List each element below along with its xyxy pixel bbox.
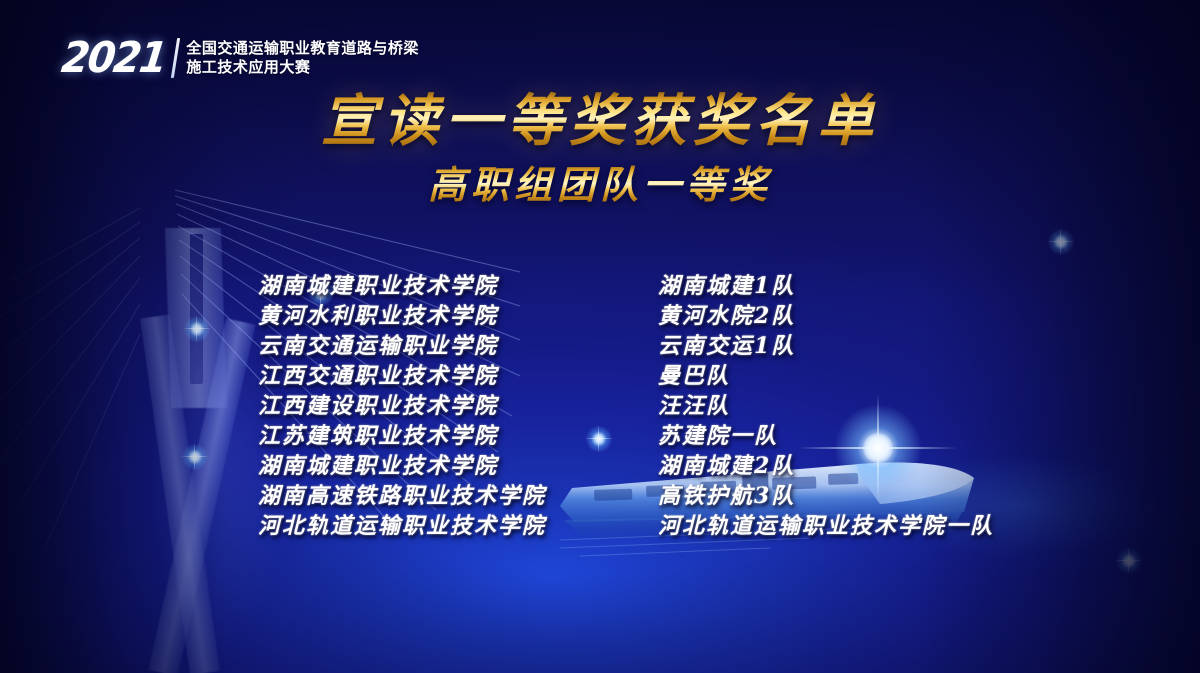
winner-row: 江苏建筑职业技术学院苏建院一队 [258, 422, 1058, 452]
slide-canvas: 2021 全国交通运输职业教育道路与桥梁 施工技术应用大赛 宣读一等奖获奖名单 … [0, 0, 1200, 673]
logo-line-1: 全国交通运输职业教育道路与桥梁 [186, 41, 419, 57]
school-name: 江苏建筑职业技术学院 [258, 422, 498, 450]
winner-row: 江西交通职业技术学院曼巴队 [258, 362, 1058, 392]
team-name: 高铁护航3队 [658, 482, 795, 510]
team-name: 湖南城建2队 [658, 452, 795, 480]
winner-row: 黄河水利职业技术学院黄河水院2队 [258, 302, 1058, 332]
team-name: 湖南城建1队 [658, 272, 795, 300]
team-cell: 高铁护航3队 [658, 482, 1058, 510]
team-cell: 苏建院一队 [658, 422, 1058, 450]
school-name: 江西交通职业技术学院 [258, 362, 498, 390]
page-subtitle: 高职组团队一等奖 [0, 163, 1200, 207]
winner-row: 江西建设职业技术学院汪汪队 [258, 392, 1058, 422]
school-cell: 黄河水利职业技术学院 [258, 302, 658, 330]
school-name: 湖南高速铁路职业技术学院 [258, 482, 546, 510]
team-name: 汪汪队 [658, 392, 730, 420]
school-cell: 河北轨道运输职业技术学院 [258, 512, 658, 540]
page-title: 宣读一等奖获奖名单 [0, 90, 1200, 153]
team-cell: 湖南城建2队 [658, 452, 1058, 480]
school-name: 江西建设职业技术学院 [258, 392, 498, 420]
school-cell: 云南交通运输职业学院 [258, 332, 658, 360]
winner-row: 湖南城建职业技术学院湖南城建2队 [258, 452, 1058, 482]
school-name: 黄河水利职业技术学院 [258, 302, 498, 330]
logo-year: 2021 [59, 37, 168, 79]
winners-list: 湖南城建职业技术学院湖南城建1队黄河水利职业技术学院黄河水院2队云南交通运输职业… [258, 272, 1058, 542]
team-cell: 汪汪队 [658, 392, 1058, 420]
winner-row: 湖南高速铁路职业技术学院高铁护航3队 [258, 482, 1058, 512]
logo-line-2: 施工技术应用大赛 [186, 60, 419, 76]
winner-row: 云南交通运输职业学院云南交运1队 [258, 332, 1058, 362]
school-name: 云南交通运输职业学院 [258, 332, 498, 360]
school-cell: 江苏建筑职业技术学院 [258, 422, 658, 450]
team-cell: 湖南城建1队 [658, 272, 1058, 300]
team-cell: 河北轨道运输职业技术学院一队 [658, 512, 1058, 540]
team-name: 黄河水院2队 [658, 302, 795, 330]
winner-row: 河北轨道运输职业技术学院河北轨道运输职业技术学院一队 [258, 512, 1058, 542]
school-name: 湖南城建职业技术学院 [258, 272, 498, 300]
school-name: 河北轨道运输职业技术学院 [258, 512, 546, 540]
winner-row: 湖南城建职业技术学院湖南城建1队 [258, 272, 1058, 302]
team-name: 苏建院一队 [658, 422, 778, 450]
school-cell: 江西建设职业技术学院 [258, 392, 658, 420]
team-name: 曼巴队 [658, 362, 730, 390]
school-cell: 湖南城建职业技术学院 [258, 272, 658, 300]
logo-divider [171, 38, 180, 78]
team-cell: 曼巴队 [658, 362, 1058, 390]
team-cell: 黄河水院2队 [658, 302, 1058, 330]
school-cell: 江西交通职业技术学院 [258, 362, 658, 390]
event-logo: 2021 全国交通运输职业教育道路与桥梁 施工技术应用大赛 [62, 38, 419, 78]
team-name: 河北轨道运输职业技术学院一队 [658, 512, 994, 540]
school-cell: 湖南高速铁路职业技术学院 [258, 482, 658, 510]
team-name: 云南交运1队 [658, 332, 795, 360]
team-cell: 云南交运1队 [658, 332, 1058, 360]
school-name: 湖南城建职业技术学院 [258, 452, 498, 480]
school-cell: 湖南城建职业技术学院 [258, 452, 658, 480]
